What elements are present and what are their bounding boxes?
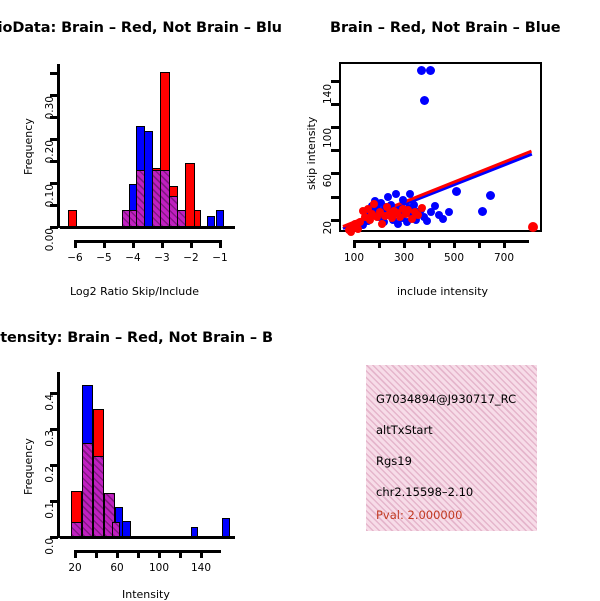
scatter-ytick-mark-3 — [331, 80, 339, 83]
scatter-xtick-mark-3 — [503, 240, 506, 248]
intensity-ytick-3: 0.3 — [44, 430, 56, 460]
annotation-panel: G7034894@J930717_RC altTxStart Rgs19 chr… — [366, 365, 537, 531]
scatter-xtick-label-1: 300 — [389, 252, 419, 264]
scatter-ytick-2: 100 — [322, 128, 334, 158]
ratio-ytick-mark-m1 — [50, 160, 58, 163]
scatter-point — [420, 96, 429, 105]
intensity-title-clip: ne Itensity: Brain – Red, Not Brain – B — [0, 330, 300, 354]
scatter-point — [370, 200, 378, 208]
scatter-point — [439, 215, 447, 223]
ratio-xtick-mark-2 — [132, 240, 135, 248]
ratio-bar-blue-6 — [216, 210, 224, 227]
intensity-x-axis-label: Intensity — [122, 588, 170, 601]
ratio-ytick-mark-m0 — [50, 204, 58, 207]
intensity-bar-blue-7 — [222, 518, 230, 537]
scatter-point — [426, 66, 435, 75]
ratio-xtick-mark-0 — [74, 240, 77, 248]
ratio-xtick-mark-5 — [219, 240, 222, 248]
ratio-bar-blue-5 — [207, 216, 215, 227]
scatter-x-axis-label: include intensity — [397, 285, 488, 298]
intensity-y-axis-label: Frequency — [22, 438, 35, 495]
scatter-point — [452, 187, 461, 196]
scatter-xtick-mark-0 — [353, 240, 356, 248]
annotation-probe-id: G7034894@J930717_RC — [376, 392, 516, 406]
annotation-locus: chr2.15598–2.10 — [376, 485, 473, 499]
ratio-xtick-label-3: −3 — [147, 252, 177, 264]
ratio-xtick-label-2: −4 — [118, 252, 148, 264]
scatter-title-clip: Brain – Red, Not Brain – Blue — [300, 20, 600, 44]
scatter-point — [431, 202, 439, 210]
ratio-ytick-mark-m3 — [50, 72, 58, 75]
scatter-ytick-mark-m1 — [331, 149, 339, 152]
ratio-ytick-mark-m2 — [50, 116, 58, 119]
ratio-xtick-label-4: −2 — [176, 252, 206, 264]
scatter-ytick-mark-0 — [331, 219, 339, 222]
intensity-bar-ov-1 — [82, 443, 93, 537]
intensity-xtick-label-2: 100 — [144, 562, 174, 574]
scatter-xtick-mark-m0 — [378, 240, 381, 248]
ratio-ytick-3: 0.30 — [44, 96, 56, 130]
panel-intensity-histogram: ne Itensity: Brain – Red, Not Brain – B … — [0, 310, 300, 600]
scatter-point — [445, 208, 453, 216]
intensity-ytick-mark-3 — [50, 428, 58, 431]
ratio-bar-ov-7 — [177, 210, 186, 227]
scatter-point — [354, 225, 362, 233]
ratio-bar-red-6 — [194, 210, 201, 227]
intensity-histogram-title: ne Itensity: Brain – Red, Not Brain – B — [0, 330, 273, 346]
intensity-bar-ov-2 — [93, 456, 104, 537]
intensity-ytick-2: 0.2 — [44, 466, 56, 496]
scatter-title: Brain – Red, Not Brain – Blue — [330, 20, 561, 36]
ratio-xtick-mark-1 — [103, 240, 106, 248]
intensity-ytick-0: 0.0 — [44, 538, 56, 568]
ratio-xtick-label-0: −6 — [60, 252, 90, 264]
intensity-xtick-mark-3 — [200, 550, 203, 558]
ratio-xtick-mark-4 — [190, 240, 193, 248]
scatter-xtick-mark-m1 — [428, 240, 431, 248]
ratio-xtick-label-1: −5 — [89, 252, 119, 264]
intensity-bar-ov-4 — [112, 522, 120, 537]
scatter-point — [423, 217, 431, 225]
intensity-y-axis-line — [57, 372, 60, 538]
scatter-point — [417, 66, 426, 75]
intensity-xtick-mark-m1 — [137, 550, 140, 558]
scatter-point — [378, 220, 386, 228]
ratio-ytick-mark-0 — [50, 226, 58, 229]
intensity-xtick-label-3: 140 — [186, 562, 216, 574]
scatter-ytick-mark-m2 — [331, 103, 339, 106]
ratio-xtick-mark-3 — [161, 240, 164, 248]
scatter-point-outlier — [528, 222, 538, 232]
intensity-xtick-mark-m2 — [179, 550, 182, 558]
ratio-x-axis-line — [74, 240, 221, 243]
scatter-point — [384, 193, 392, 201]
ratio-ytick-mark-3 — [50, 94, 58, 97]
scatter-xtick-label-2: 500 — [439, 252, 469, 264]
intensity-ytick-mark-1 — [50, 500, 58, 503]
intensity-xtick-mark-1 — [116, 550, 119, 558]
scatter-y-axis-label: skip intensity — [305, 117, 318, 190]
scatter-point — [406, 190, 414, 198]
scatter-xtick-mark-m2 — [478, 240, 481, 248]
intensity-ytick-4: 0.4 — [44, 394, 56, 424]
intensity-bar-ov-0 — [71, 522, 82, 537]
intensity-ytick-mark-2 — [50, 464, 58, 467]
scatter-xtick-label-3: 700 — [489, 252, 519, 264]
intensity-bar-blue-6 — [191, 527, 198, 537]
scatter-ytick-1: 60 — [322, 174, 334, 204]
scatter-xtick-mark-2 — [453, 240, 456, 248]
ratio-histogram-title: RatioData: Brain – Red, Not Brain – Blu — [0, 20, 282, 36]
scatter-point — [414, 211, 422, 219]
ratio-ytick-0: 0.00 — [44, 228, 56, 262]
panel-ratio-histogram: RatioData: Brain – Red, Not Brain – Blu … — [0, 0, 300, 310]
scatter-point — [399, 196, 407, 204]
ratio-ytick-1: 0.10 — [44, 184, 56, 218]
annotation-event-type: altTxStart — [376, 423, 433, 437]
scatter-xtick-mark-1 — [403, 240, 406, 248]
ratio-xtick-label-5: −1 — [205, 252, 235, 264]
scatter-ytick-3: 140 — [322, 84, 334, 114]
intensity-xtick-mark-m0 — [95, 550, 98, 558]
scatter-ytick-mark-2 — [331, 126, 339, 129]
intensity-xtick-label-0: 20 — [60, 562, 90, 574]
intensity-ytick-1: 0.1 — [44, 502, 56, 532]
ratio-ytick-mark-2 — [50, 138, 58, 141]
panel-intensity-scatter: Brain – Red, Not Brain – Blue skip inten… — [300, 0, 600, 310]
scatter-ytick-mark-1 — [331, 172, 339, 175]
scatter-ytick-mark-m0 — [331, 196, 339, 199]
scatter-ytick-0: 20 — [322, 221, 334, 251]
scatter-point — [418, 204, 426, 212]
ratio-bar-red-0 — [68, 210, 77, 227]
scatter-xtick-label-0: 100 — [339, 252, 369, 264]
ratio-x-axis-label: Log2 Ratio Skip/Include — [70, 285, 199, 298]
intensity-bar-blue-5 — [122, 521, 131, 537]
intensity-ytick-mark-4 — [50, 392, 58, 395]
intensity-xtick-mark-0 — [74, 550, 77, 558]
intensity-xtick-mark-2 — [158, 550, 161, 558]
annotation-gene-symbol: Rgs19 — [376, 454, 412, 468]
ratio-ytick-2: 0.20 — [44, 140, 56, 174]
intensity-xtick-label-1: 60 — [102, 562, 132, 574]
ratio-y-axis-label: Frequency — [22, 118, 35, 175]
scatter-point — [486, 191, 495, 200]
annotation-pvalue: Pval: 2.000000 — [376, 508, 462, 522]
ratio-ytick-mark-1 — [50, 182, 58, 185]
ratio-title-clip: RatioData: Brain – Red, Not Brain – Blu — [0, 20, 300, 44]
intensity-ytick-mark-0 — [50, 536, 58, 539]
scatter-point — [478, 207, 487, 216]
